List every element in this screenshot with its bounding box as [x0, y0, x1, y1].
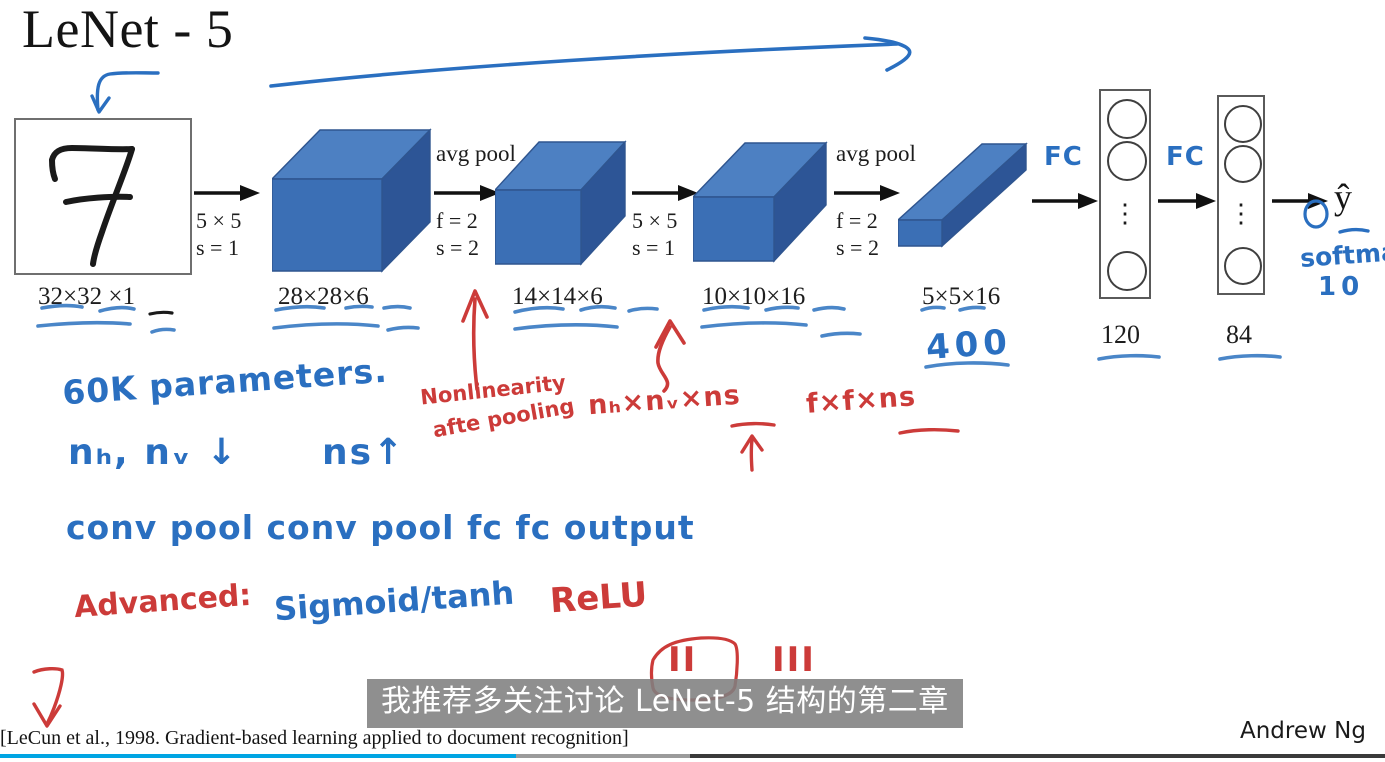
video-progress-played[interactable] [0, 754, 516, 758]
lecture-slide: LeNet - 5 32×32 ×1 5 × 5 s = 1 28×28×6 [0, 0, 1385, 762]
volume-shape-annotation: nₕ×nᵥ×nꜱ [587, 380, 742, 422]
fc2-neuron [1224, 105, 1262, 143]
pool1-stride-label: s = 2 [436, 235, 479, 261]
fc2-count-label: 84 [1226, 320, 1252, 350]
fc1-column: ⋮ [1099, 89, 1151, 299]
fc1-vertical-dots: ⋮ [1101, 209, 1149, 219]
red-underline-filter-nc-icon [896, 424, 966, 440]
video-subtitle: 我推荐多关注讨论 LeNet-5 结构的第二章 [367, 679, 963, 728]
blue-underline-84-icon [1216, 350, 1288, 366]
arrow-pool2-icon [832, 182, 904, 204]
blue-underline-group-conv2-icon [694, 296, 914, 348]
section-iii-annotation: III [772, 640, 816, 680]
pool2-stride-label: s = 2 [836, 235, 879, 261]
pipeline-annotation: conv pool conv pool fc fc output [66, 508, 695, 547]
conv1-stride-label: s = 1 [196, 235, 239, 261]
blue-long-sweep-arrow-icon [265, 34, 925, 89]
pool1-filter-label: f = 2 [436, 208, 478, 234]
advanced-label-annotation: Advanced: [73, 578, 252, 625]
params-annotation: 60K parameters. [61, 351, 389, 413]
new-activation-annotation: ReLU [549, 575, 649, 622]
pool2-filter-label: f = 2 [836, 208, 878, 234]
red-underline-arrow-nc-icon [728, 418, 786, 474]
blue-underline-400-icon [922, 358, 1022, 374]
channels-up-annotation: nꜱ↑ [322, 432, 405, 473]
arrow-fc1-icon [1030, 190, 1102, 212]
arrow-conv2-icon [630, 182, 702, 204]
blue-underline-group-pool2-icon [916, 296, 1036, 320]
arrow-fc2-icon [1156, 190, 1220, 212]
fc1-neuron [1107, 141, 1147, 181]
presenter-name: Andrew Ng [1240, 718, 1366, 744]
section-ii-annotation: II [668, 640, 697, 680]
red-arrow-to-citation-icon [20, 660, 76, 730]
filter-shape-annotation: f×f×nꜱ [805, 381, 917, 420]
fc1-count-label: 120 [1101, 320, 1140, 350]
volume-pool2-out [898, 140, 1028, 260]
volume-conv1-out [272, 126, 432, 274]
fc2-vertical-dots: ⋮ [1219, 209, 1263, 219]
blue-circle-and-dash-annotation-icon [1300, 196, 1380, 244]
fc1-neuron [1107, 99, 1147, 139]
fc1-neuron [1107, 251, 1147, 291]
blue-underline-120-icon [1095, 350, 1167, 366]
dims-down-annotation: nₕ, nᵥ ↓ [68, 432, 239, 473]
conv2-stride-label: s = 1 [632, 235, 675, 261]
blue-underline-group-input-icon [30, 296, 220, 344]
fc2-neuron [1224, 247, 1262, 285]
output-classes-annotation: 10 [1318, 272, 1364, 302]
blue-underline-group-conv1-icon [268, 296, 468, 344]
old-activations-annotation: Sigmoid/tanh [273, 574, 515, 629]
volume-conv2-out [693, 139, 828, 265]
fc2-neuron [1224, 145, 1262, 183]
arrow-pool1-icon [432, 182, 504, 204]
volume-pool1-out [495, 138, 627, 266]
page-title: LeNet - 5 [22, 0, 233, 60]
conv1-filter-label: 5 × 5 [196, 208, 241, 234]
fc2-column: ⋮ [1217, 95, 1265, 295]
fc2-handwritten-label: FC [1166, 142, 1205, 172]
conv2-filter-label: 5 × 5 [632, 208, 677, 234]
arrow-conv1-icon [192, 182, 264, 204]
blue-curved-arrow-to-input-icon [90, 58, 190, 118]
fc1-handwritten-label: FC [1044, 142, 1083, 172]
handwritten-digit-seven-icon [14, 118, 192, 275]
citation-text: [LeCun et al., 1998. Gradient-based lear… [0, 727, 629, 750]
